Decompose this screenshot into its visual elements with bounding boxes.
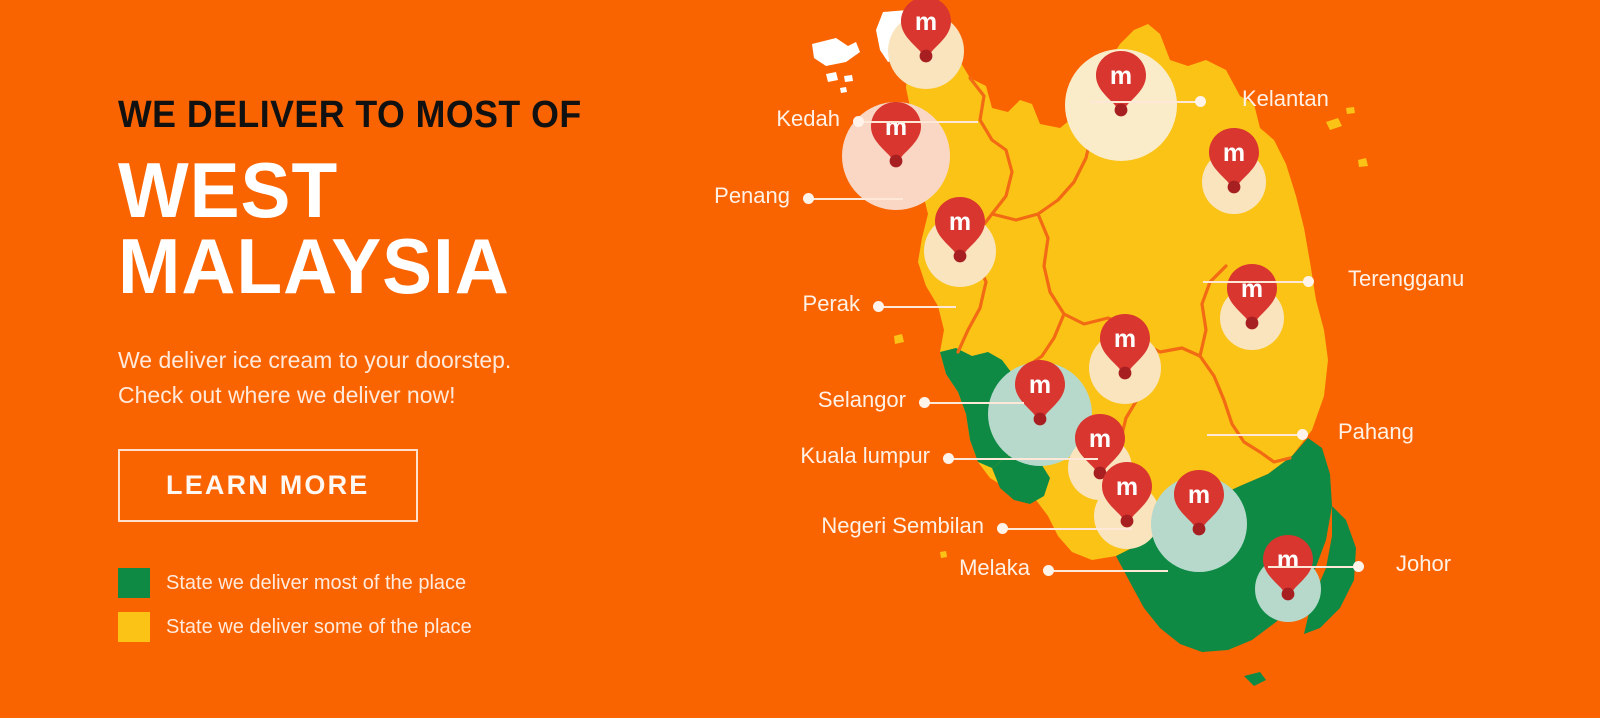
- leader-line-johor: [1268, 566, 1358, 568]
- page-title: WEST MALAYSIA: [118, 152, 713, 305]
- leader-line-kuala-lumpur: [948, 458, 1098, 460]
- legend-swatch-green: [118, 568, 150, 598]
- perak-pin[interactable]: m: [933, 195, 987, 272]
- terengganu-n-pin[interactable]: m: [1207, 126, 1261, 203]
- leader-dot-perak: [873, 301, 884, 312]
- leader-dot-melaka: [1043, 565, 1054, 576]
- svg-text:m: m: [1241, 275, 1263, 303]
- state-label-terengganu[interactable]: Terengganu: [1348, 266, 1464, 292]
- state-label-penang[interactable]: Penang: [714, 183, 790, 209]
- johor-w-pin[interactable]: m: [1172, 468, 1226, 545]
- hero-eyebrow: WE DELIVER TO MOST OF: [118, 96, 701, 134]
- state-label-melaka[interactable]: Melaka: [959, 555, 1030, 581]
- leader-line-pahang: [1207, 434, 1302, 436]
- state-label-kelantan[interactable]: Kelantan: [1242, 86, 1329, 112]
- state-label-kuala-lumpur[interactable]: Kuala lumpur: [800, 443, 930, 469]
- leader-dot-negeri-sembilan: [997, 523, 1008, 534]
- kuala-lumpur-pin[interactable]: m: [1013, 358, 1067, 435]
- leader-line-melaka: [1048, 570, 1168, 572]
- region-langkawi-islet-2: [844, 75, 853, 82]
- svg-text:m: m: [1116, 473, 1138, 501]
- leader-dot-pahang: [1297, 429, 1308, 440]
- learn-more-button[interactable]: LEARN MORE: [118, 449, 418, 522]
- headline-line-2: MALAYSIA: [118, 228, 713, 304]
- kelantan-pin[interactable]: m: [1094, 49, 1148, 126]
- headline-line-1: WEST: [118, 152, 713, 228]
- leader-dot-johor: [1353, 561, 1364, 572]
- leader-line-selangor: [924, 402, 1024, 404]
- legend-label-some: State we deliver some of the place: [166, 616, 472, 639]
- leader-dot-kelantan: [1195, 96, 1206, 107]
- malaysia-map: mmmmmmmmmmmm KedahPenangPerakSelangorKua…: [640, 0, 1600, 718]
- terengganu-s-pin[interactable]: m: [1225, 262, 1279, 339]
- state-label-pahang[interactable]: Pahang: [1338, 419, 1414, 445]
- leader-dot-selangor: [919, 397, 930, 408]
- leader-line-perak: [878, 306, 956, 308]
- region-singapore: [1244, 672, 1266, 686]
- region-langkawi: [812, 38, 860, 66]
- hero-banner: WE DELIVER TO MOST OF WEST MALAYSIA We d…: [0, 0, 1600, 718]
- svg-text:m: m: [885, 113, 907, 141]
- svg-text:m: m: [915, 8, 937, 36]
- leader-line-negeri-sembilan: [1002, 528, 1132, 530]
- penang-pin[interactable]: m: [869, 100, 923, 177]
- region-langkawi-islet-1: [826, 72, 838, 82]
- pahang-pin[interactable]: m: [1098, 312, 1152, 389]
- leader-line-kelantan: [1090, 101, 1200, 103]
- svg-text:m: m: [1277, 546, 1299, 574]
- leader-dot-kuala-lumpur: [943, 453, 954, 464]
- leader-dot-kedah: [853, 116, 864, 127]
- kedah-pin[interactable]: m: [899, 0, 953, 72]
- melaka-pin[interactable]: m: [1100, 460, 1154, 537]
- svg-text:m: m: [949, 208, 971, 236]
- leader-dot-terengganu: [1303, 276, 1314, 287]
- leader-line-penang: [808, 198, 903, 200]
- state-label-kedah[interactable]: Kedah: [776, 106, 840, 132]
- state-label-negeri-sembilan[interactable]: Negeri Sembilan: [821, 513, 984, 539]
- svg-text:m: m: [1114, 325, 1136, 353]
- state-label-selangor[interactable]: Selangor: [818, 387, 906, 413]
- leader-dot-penang: [803, 193, 814, 204]
- leader-line-kedah: [858, 121, 978, 123]
- state-label-perak[interactable]: Perak: [803, 291, 860, 317]
- svg-text:m: m: [1029, 371, 1051, 399]
- legend-swatch-yellow: [118, 612, 150, 642]
- svg-text:m: m: [1223, 139, 1245, 167]
- region-langkawi-islet-3: [840, 87, 847, 93]
- svg-text:m: m: [1188, 481, 1210, 509]
- johor-e-pin[interactable]: m: [1261, 533, 1315, 610]
- leader-line-terengganu: [1203, 281, 1308, 283]
- state-label-johor[interactable]: Johor: [1396, 551, 1451, 577]
- legend-label-most: State we deliver most of the place: [166, 572, 466, 595]
- svg-text:m: m: [1110, 62, 1132, 90]
- svg-text:m: m: [1089, 425, 1111, 453]
